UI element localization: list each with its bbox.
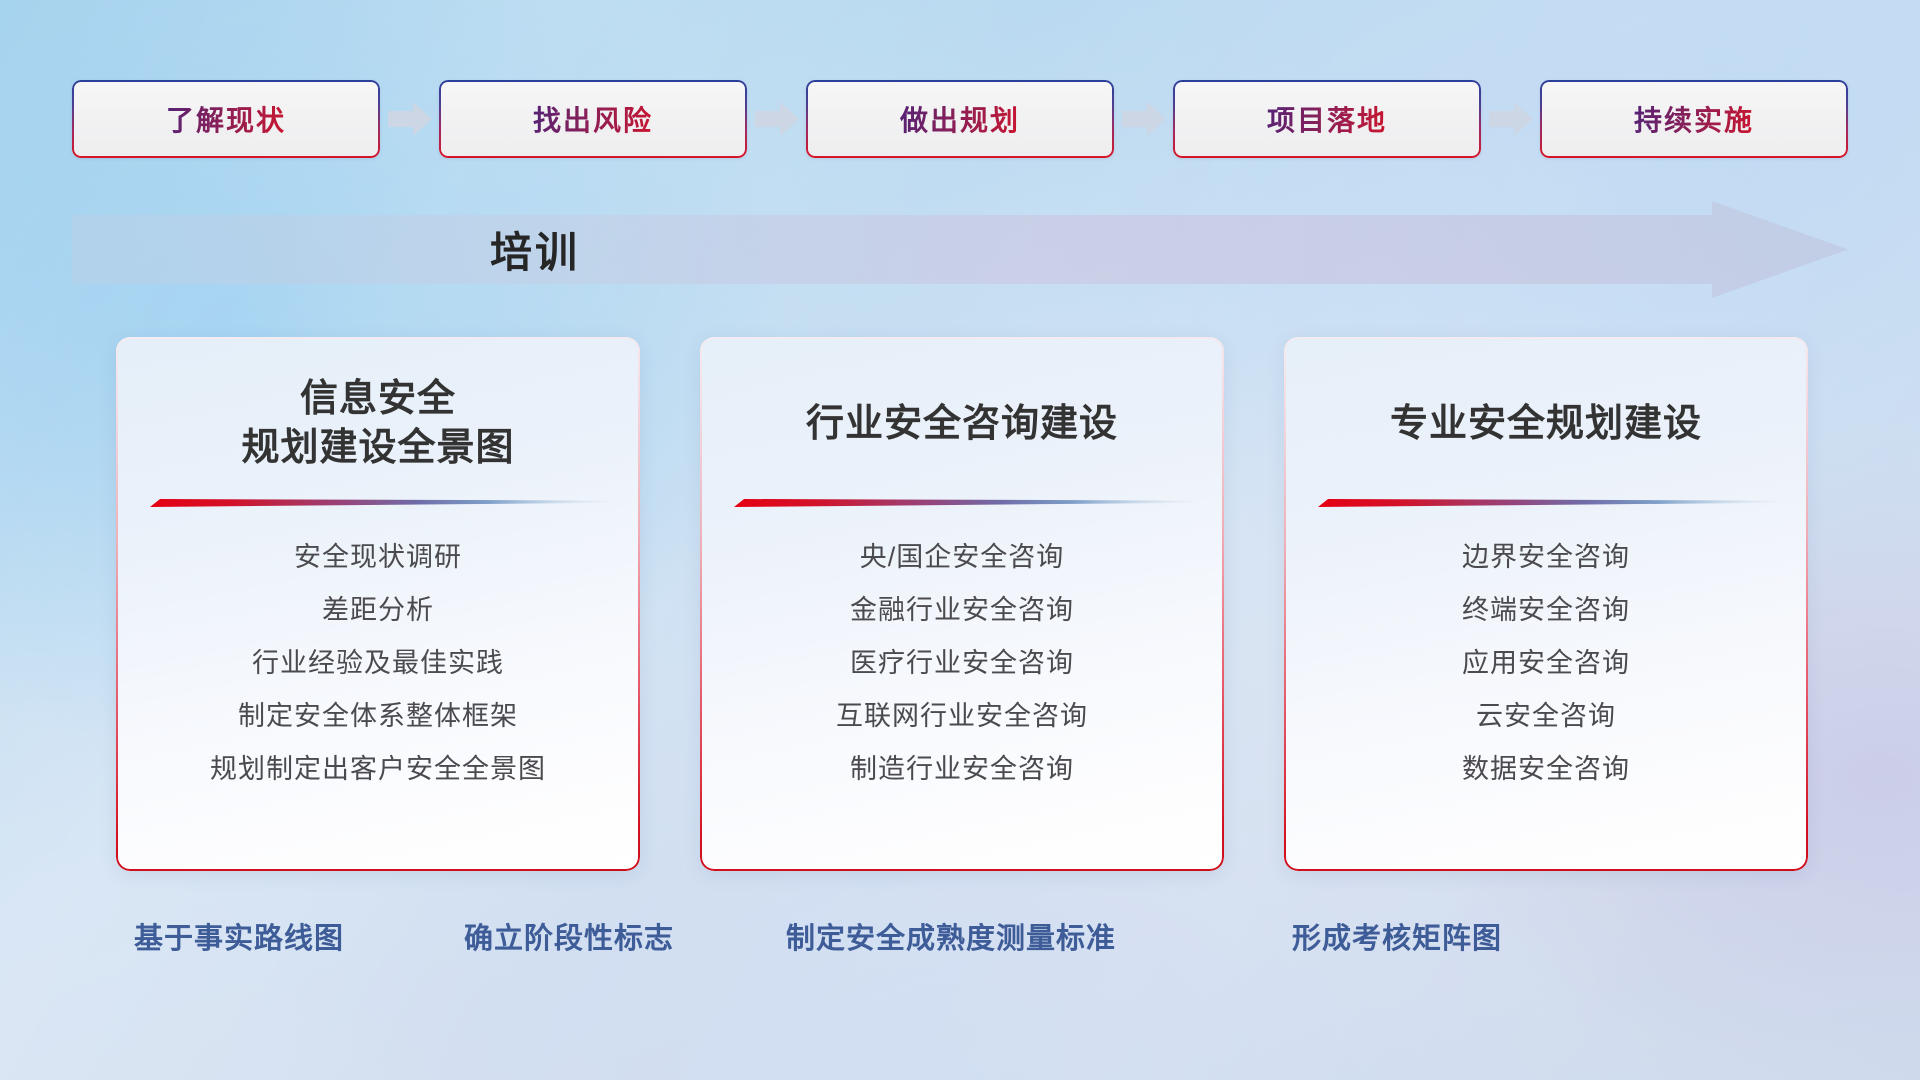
step-arrow-icon-3 xyxy=(1114,80,1173,158)
step-box-3[interactable]: 做出规划 xyxy=(806,80,1114,158)
card-list-item: 制造行业安全咨询 xyxy=(726,743,1198,796)
gradient-divider-icon-2 xyxy=(732,495,1192,509)
card-list-item: 数据安全咨询 xyxy=(1310,743,1782,796)
card-list-item: 边界安全咨询 xyxy=(1310,531,1782,584)
card-list-item: 应用安全咨询 xyxy=(1310,637,1782,690)
card-list-item: 规划制定出客户安全全景图 xyxy=(142,743,614,796)
banner-title: 培训 xyxy=(72,201,1848,298)
caption-assessment-matrix: 形成考核矩阵图 xyxy=(1292,915,1502,957)
card-list-item: 制定安全体系整体框架 xyxy=(142,690,614,743)
card-list-item: 央/国企安全咨询 xyxy=(726,531,1198,584)
card-row: 信息安全 规划建设全景图 xyxy=(0,337,1920,877)
card-title-line: 专业安全规划建设 xyxy=(1390,400,1702,449)
card-list-item: 云安全咨询 xyxy=(1310,690,1782,743)
card-list-item: 差距分析 xyxy=(142,584,614,637)
card-list-item: 互联网行业安全咨询 xyxy=(726,690,1198,743)
gradient-divider-icon-1 xyxy=(148,495,608,509)
step-box-1[interactable]: 了解现状 xyxy=(72,80,380,158)
slide-canvas: 了解现状 找出风险 做出规划 项目落地 xyxy=(0,0,1920,1080)
step-label-2: 找出风险 xyxy=(439,80,747,158)
step-box-4[interactable]: 项目落地 xyxy=(1173,80,1481,158)
training-banner: 培训 xyxy=(72,201,1848,298)
step-label-3: 做出规划 xyxy=(806,80,1114,158)
step-box-5[interactable]: 持续实施 xyxy=(1540,80,1848,158)
process-step-row: 了解现状 找出风险 做出规划 项目落地 xyxy=(72,79,1848,159)
step-arrow-icon-2 xyxy=(747,80,806,158)
step-label-4: 项目落地 xyxy=(1173,80,1481,158)
step-box-2[interactable]: 找出风险 xyxy=(439,80,747,158)
step-arrow-icon-4 xyxy=(1481,80,1540,158)
card-professional-security-planning[interactable]: 专业安全规划建设 xyxy=(1284,337,1808,871)
caption-row: 基于事实路线图 确立阶段性标志 制定安全成熟度测量标准 形成考核矩阵图 xyxy=(0,915,1920,971)
card-title-2: 行业安全咨询建设 xyxy=(806,375,1118,473)
card-list-item: 金融行业安全咨询 xyxy=(726,584,1198,637)
caption-roadmap: 基于事实路线图 xyxy=(134,915,344,957)
card-list-item: 行业经验及最佳实践 xyxy=(142,637,614,690)
card-title-line: 行业安全咨询建设 xyxy=(806,400,1118,449)
card-title-1: 信息安全 规划建设全景图 xyxy=(241,375,514,473)
card-information-security-blueprint[interactable]: 信息安全 规划建设全景图 xyxy=(116,337,640,871)
step-label-5: 持续实施 xyxy=(1540,80,1848,158)
step-label-1: 了解现状 xyxy=(72,80,380,158)
card-title-line: 规划建设全景图 xyxy=(241,424,514,473)
step-arrow-icon-1 xyxy=(380,80,439,158)
card-list-item: 医疗行业安全咨询 xyxy=(726,637,1198,690)
gradient-divider-icon-3 xyxy=(1316,495,1776,509)
card-item-list-3: 边界安全咨询 终端安全咨询 应用安全咨询 云安全咨询 数据安全咨询 xyxy=(1310,531,1782,796)
card-title-3: 专业安全规划建设 xyxy=(1390,375,1702,473)
card-industry-security-consulting[interactable]: 行业安全咨询建设 xyxy=(700,337,1224,871)
caption-milestones: 确立阶段性标志 xyxy=(464,915,674,957)
card-list-item: 终端安全咨询 xyxy=(1310,584,1782,637)
card-list-item: 安全现状调研 xyxy=(142,531,614,584)
card-item-list-1: 安全现状调研 差距分析 行业经验及最佳实践 制定安全体系整体框架 规划制定出客户… xyxy=(142,531,614,796)
card-item-list-2: 央/国企安全咨询 金融行业安全咨询 医疗行业安全咨询 互联网行业安全咨询 制造行… xyxy=(726,531,1198,796)
caption-maturity-standard: 制定安全成熟度测量标准 xyxy=(786,915,1116,957)
card-title-line: 信息安全 xyxy=(241,375,514,424)
